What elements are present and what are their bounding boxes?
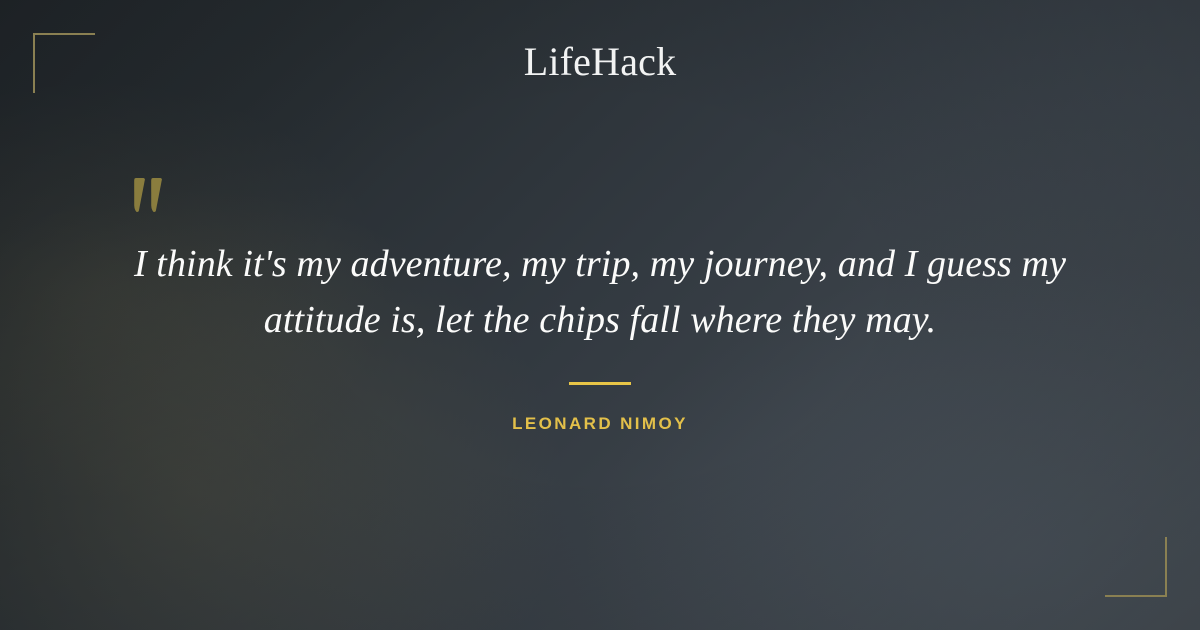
quote-card: LifeHack I think it's my adventure, my t… bbox=[0, 0, 1200, 630]
brand-logo: LifeHack bbox=[0, 38, 1200, 86]
quote-text: I think it's my adventure, my trip, my j… bbox=[100, 236, 1100, 348]
quote-mark-icon bbox=[126, 150, 186, 220]
corner-bracket-bottom-right-icon bbox=[1105, 537, 1167, 597]
corner-bracket-right-line bbox=[1165, 537, 1167, 597]
gold-divider bbox=[569, 382, 631, 385]
corner-bracket-bottom-line bbox=[1105, 595, 1167, 597]
quote-mark-stroke-left bbox=[132, 178, 145, 212]
quote-author: LEONARD NIMOY bbox=[0, 412, 1200, 436]
corner-bracket-top-line bbox=[33, 33, 95, 35]
quote-mark-stroke-right bbox=[149, 178, 162, 212]
